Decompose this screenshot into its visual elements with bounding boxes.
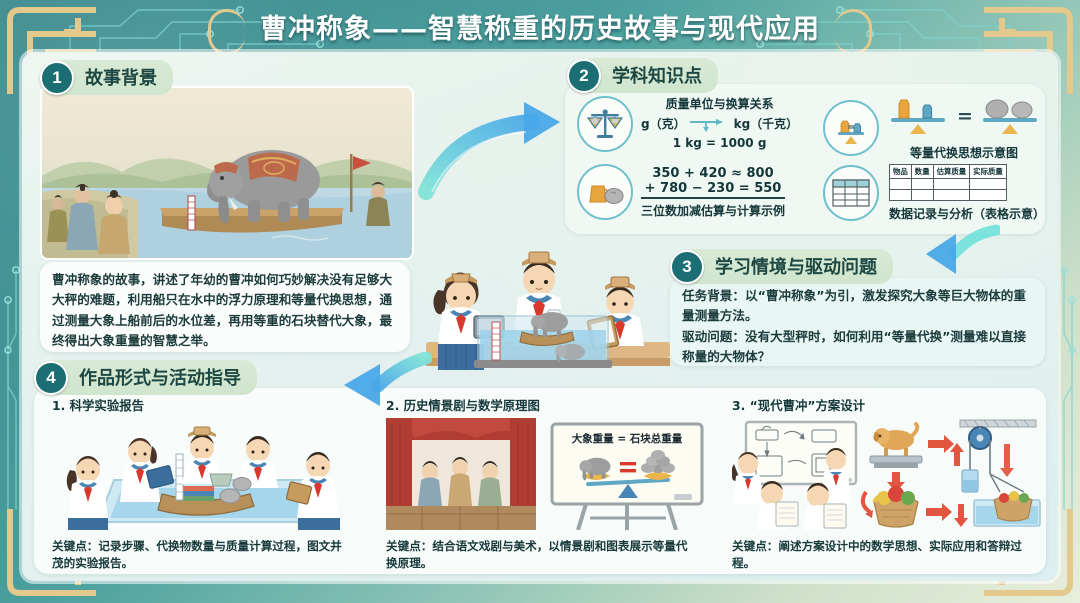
svg-text:=: = [847,123,855,133]
deliverable-panel-3: 3. “现代曹冲”方案设计 [732,396,1042,573]
whiteboard-equation-title: 大象重量 = 石块总重量 [552,431,702,446]
arrow-story-to-knowledge-icon [414,92,574,202]
page-title: 曹冲称象——智慧称重的历史故事与现代应用 [260,7,820,46]
section-4-number: 4 [34,361,68,395]
table-row [890,179,1007,190]
section-4-label: 作品形式与活动指导 [55,360,257,395]
equal-substitution-illustration: = [889,94,1039,136]
section-3-label: 学习情境与驱动问题 [691,249,893,284]
poster-root: 曹冲称象——智慧称重的历史故事与现代应用 1 故事背景 [0,0,1080,603]
unit-conversion-text: 质量单位与换算关系 g（克） kg（千克） 1 kg = 1000 g [641,96,798,153]
poster-title-bar: 曹冲称象——智慧称重的历史故事与现代应用 [0,0,1080,56]
center-experiment-illustration [412,192,682,392]
story-background-illustration [40,86,414,260]
svg-text:=: = [957,105,973,127]
story-background-text-card: 曹冲称象的故事，讲述了年幼的曹冲如何巧妙解决没有足够大大秤的难题，利用船只在水中… [40,262,410,352]
section-1-number: 1 [40,61,74,95]
title-plate: 曹冲称象——智慧称重的历史故事与现代应用 [214,5,866,52]
balance-scale-icon [577,96,633,152]
table-header-estimated-mass: 估算质量 [933,165,970,179]
driving-question-text: 驱动问题：没有大型秤时，如何利用“等量代换”测量难以直接称量的大物体？ [682,327,1033,368]
deliverable-2-illustration: 大象重量 = 石块总重量 [386,418,716,530]
knowledge-item-data-table: 物品 数量 估算质量 实际质量 数据记录与分析（表格示意） [823,164,1045,222]
knowledge-item-equal-substitution: = = [823,94,1039,161]
arrow-to-deliverables-icon [322,352,432,412]
section-4-header: 4 作品形式与活动指导 [34,360,257,395]
circuit-decoration-left [0,230,24,510]
data-record-table: 物品 数量 估算质量 实际质量 [889,164,1007,201]
deliverable-3-title: 3. “现代曹冲”方案设计 [732,396,1042,414]
deliverable-3-key: 关键点：阐述方案设计中的数学思想、实际应用和答辩过程。 [732,538,1022,573]
equal-substitution-diagram: = 等量代换思想示意图 [889,94,1039,161]
deliverable-panel-1: 1. 科学实验报告 [52,396,372,573]
section-2-label: 学科知识点 [588,58,718,93]
section-1-header: 1 故事背景 [40,60,173,95]
section-3-number: 3 [670,250,704,284]
story-background-text: 曹冲称象的故事，讲述了年幼的曹冲如何巧妙解决没有足够大大秤的难题，利用船只在水中… [40,262,410,360]
section-3-header: 3 学习情境与驱动问题 [670,249,893,284]
unit-conversion-line1: 质量单位与换算关系 [641,96,798,113]
table-row [890,190,1007,201]
table-header-item: 物品 [890,165,912,179]
equal-substitution-caption: 等量代换思想示意图 [889,144,1039,161]
table-grid-icon [823,165,879,221]
conversion-arrow-icon [688,114,732,134]
unit-kilogram-label: kg（千克） [734,116,799,133]
content-panel: 1 故事背景 [22,52,1058,581]
task-background-text: 任务背景：以“曹冲称象”为引，激发探究大象等巨大物体的重量测量方法。 [682,286,1033,327]
section-2-number: 2 [567,59,601,93]
section-2-header: 2 学科知识点 [567,58,718,93]
deliverables-card: 1. 科学实验报告 [34,388,1046,574]
arrow-to-driving-question-icon [910,224,1000,280]
circuit-decoration-right [1056,230,1080,510]
table-header-row: 物品 数量 估算质量 实际质量 [890,165,1007,179]
deliverable-1-key: 关键点：记录步骤、代换物数量与质量计算过程，图文并茂的实验报告。 [52,538,352,573]
deliverable-3-illustration [732,418,1042,530]
estimation-equation-1: 350 + 420 ≈ 800 [641,166,785,181]
deliverable-2-key: 关键点：结合语文戏剧与美术，以情景剧和图表展示等量代换原理。 [386,538,691,573]
knowledge-item-unit-conversion: 质量单位与换算关系 g（克） kg（千克） 1 kg = 1000 g [577,96,798,153]
table-header-quantity: 数量 [911,165,933,179]
section-1-label: 故事背景 [61,60,173,95]
unit-gram-label: g（克） [641,116,686,133]
deliverable-2-title: 2. 历史情景剧与数学原理图 [386,396,716,414]
deliverable-panel-2: 2. 历史情景剧与数学原理图 [386,396,716,573]
unit-conversion-equation: 1 kg = 1000 g [641,135,798,152]
driving-question-card: 任务背景：以“曹冲称象”为引，激发探究大象等巨大物体的重量测量方法。 驱动问题：… [670,278,1045,366]
table-header-actual-mass: 实际质量 [970,165,1007,179]
deliverable-1-illustration [52,418,372,530]
equal-weights-icon: = [823,100,879,156]
data-table-block: 物品 数量 估算质量 实际质量 数据记录与分析（表格示意） [889,164,1045,222]
data-table-caption: 数据记录与分析（表格示意） [889,205,1045,222]
